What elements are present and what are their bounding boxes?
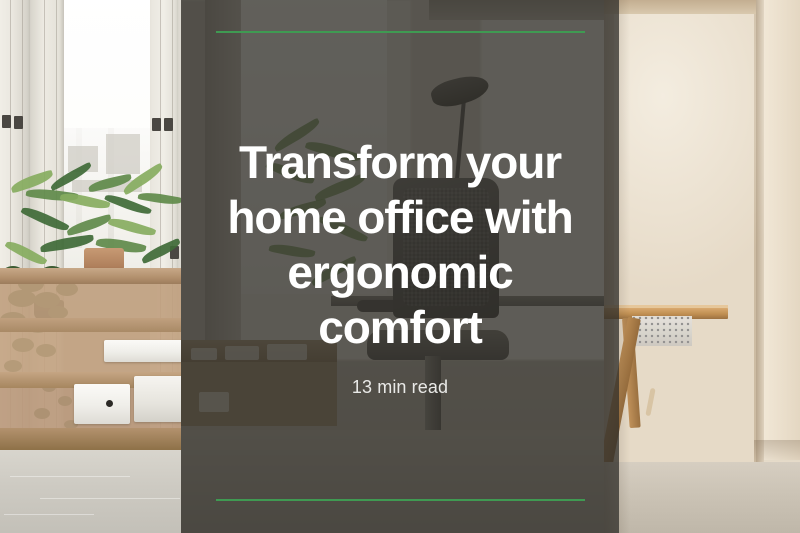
page-title: Transform your home office with ergonomi… [200,135,600,355]
photo-left-window-area [0,0,196,533]
wooden-shelf-edge [0,318,196,332]
storage-box [74,384,130,424]
book-spines [0,384,56,426]
shelf-plinth [0,428,196,450]
concrete-floor [604,462,800,533]
wooden-shelf [0,284,196,318]
wall-recess [764,0,800,460]
hero-content: Transform your home office with ergonomi… [181,0,619,533]
shutter-hinge [14,116,23,129]
perforated-metal-panel [632,316,692,346]
shutter-hinge [2,115,11,128]
photo-right-wall-area [604,0,800,533]
top-divider-rule [216,31,585,33]
storage-box [134,376,184,422]
concrete-floor [0,450,196,533]
wooden-shelf-edge [0,268,196,284]
read-time-label: 13 min read [352,377,448,398]
wall-corner-edge [756,0,764,470]
shutter-hinge [152,118,161,131]
box-handle-icon [106,400,113,407]
blog-hero-banner: Transform your home office with ergonomi… [0,0,800,533]
wall-shadow [754,440,800,464]
shutter-hinge [164,118,173,131]
storage-box [104,340,184,362]
bottom-divider-rule [216,499,585,501]
